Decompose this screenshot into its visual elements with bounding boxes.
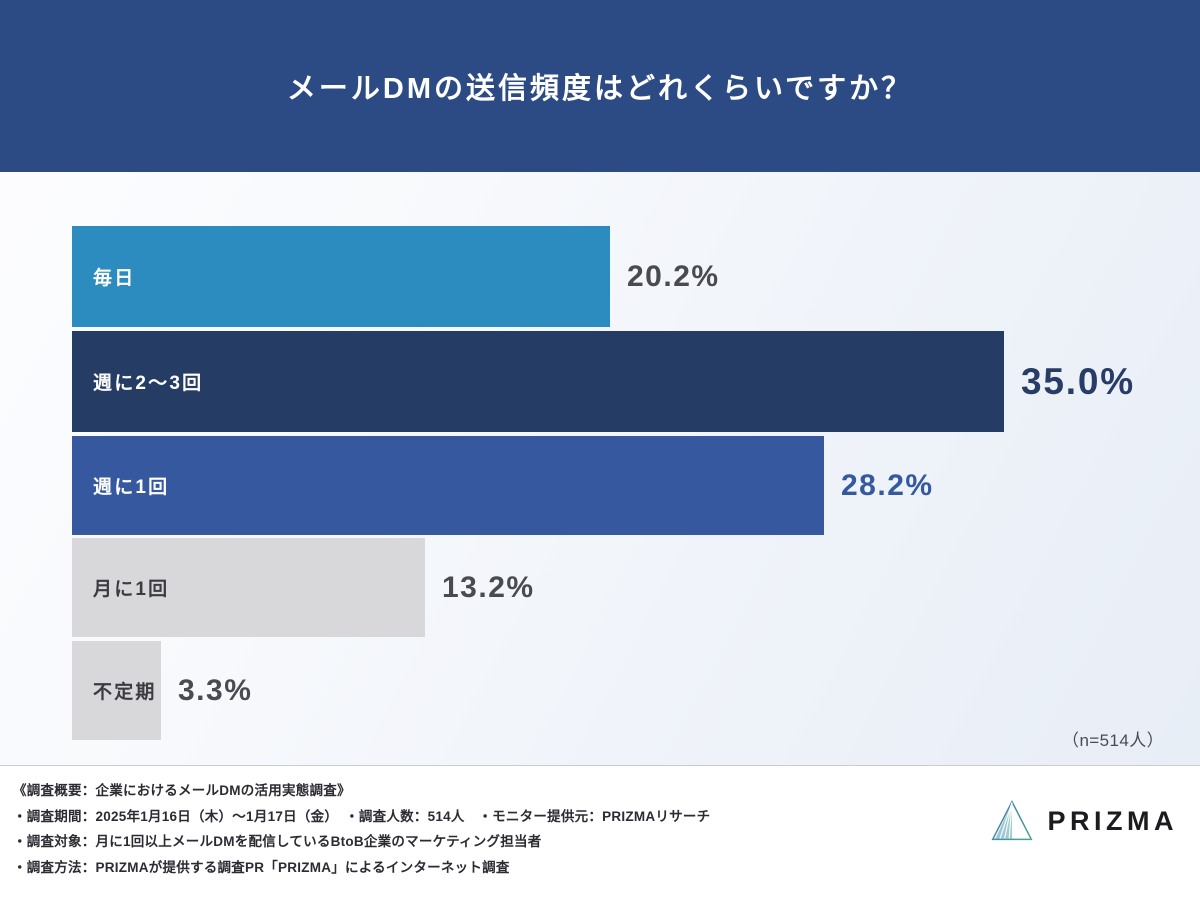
bar-segment: 月に1回 xyxy=(72,538,425,637)
header-banner: メールDMの送信頻度はどれくらいですか？ xyxy=(0,0,1200,172)
bar-row: 不定期3.3% xyxy=(72,641,252,740)
bar-value-label: 3.3% xyxy=(178,674,252,708)
footer: 《調査概要：企業におけるメールDMの活用実態調査》・調査期間：2025年1月16… xyxy=(0,766,1200,900)
bar-row: 月に1回13.2% xyxy=(72,538,535,637)
bar-segment: 不定期 xyxy=(72,641,161,740)
footer-line: ・調査対象：月に1回以上メールDMを配信しているBtoB企業のマーケティング担当… xyxy=(13,829,1023,855)
infographic-page: メールDMの送信頻度はどれくらいですか？ 毎日20.2%週に2〜3回35.0%週… xyxy=(0,0,1200,900)
bar-row: 週に2〜3回35.0% xyxy=(72,331,1135,432)
bar-category-label: 毎日 xyxy=(72,263,135,290)
bar-category-label: 不定期 xyxy=(72,677,157,704)
bar-value-label: 35.0% xyxy=(1021,361,1135,403)
footer-line: ・調査方法：PRIZMAが提供する調査PR「PRIZMA」によるインターネット調… xyxy=(13,855,1023,881)
sample-size-caption: （n=514人） xyxy=(1062,726,1164,751)
bar-row: 週に1回28.2% xyxy=(72,436,934,535)
bar-category-label: 週に2〜3回 xyxy=(72,368,203,395)
survey-overview-text: 《調査概要：企業におけるメールDMの活用実態調査》・調査期間：2025年1月16… xyxy=(13,778,1023,880)
bar-segment: 週に1回 xyxy=(72,436,824,535)
bar-segment: 週に2〜3回 xyxy=(72,331,1004,432)
footer-line: ・調査期間：2025年1月16日（木）〜1月17日（金） ・調査人数：514人 … xyxy=(13,804,1023,830)
footer-line: 《調査概要：企業におけるメールDMの活用実態調査》 xyxy=(13,778,1023,804)
bar-segment: 毎日 xyxy=(72,226,610,327)
bar-chart: 毎日20.2%週に2〜3回35.0%週に1回28.2%月に1回13.2%不定期3… xyxy=(0,172,1200,765)
bar-value-label: 20.2% xyxy=(627,260,720,294)
prizma-logo-text: PRIZMA xyxy=(1048,806,1179,837)
bar-value-label: 28.2% xyxy=(841,469,934,503)
bar-value-label: 13.2% xyxy=(442,571,535,605)
bar-row: 毎日20.2% xyxy=(72,226,720,327)
page-title: メールDMの送信頻度はどれくらいですか？ xyxy=(287,65,913,107)
prizma-logo: PRIZMA xyxy=(989,798,1179,844)
bar-category-label: 週に1回 xyxy=(72,472,169,499)
bar-category-label: 月に1回 xyxy=(72,574,169,601)
prizma-triangle-icon xyxy=(989,798,1035,844)
